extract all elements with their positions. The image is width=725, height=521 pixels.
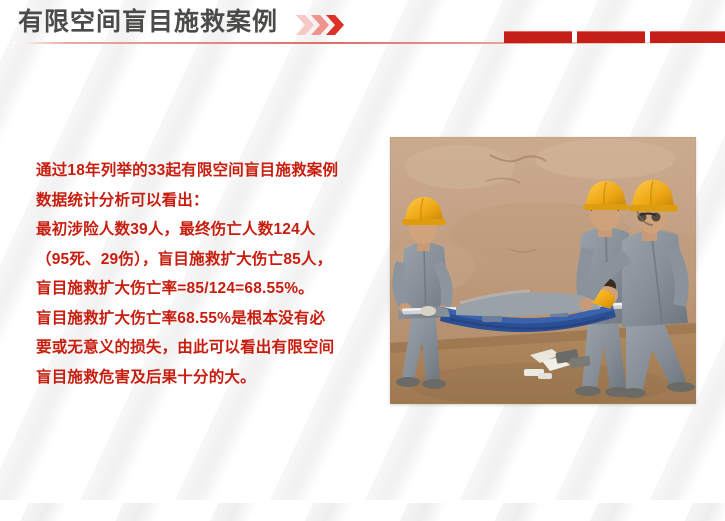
accent-bar-1 [504,31,572,43]
rescue-drill-photo [390,137,696,404]
content-line: 要或无意义的损失，由此可以看出有限空间 [36,333,386,363]
triple-chevron-right-icon [296,14,350,36]
content-line: 最初涉险人数39人，最终伤亡人数124人 [36,215,386,245]
accent-bar-3 [650,31,725,43]
background-diagonal-stripes-lower [0,503,725,521]
page-title: 有限空间盲目施救案例 [18,7,278,37]
content-line: 盲目施救扩大伤亡率=85/124=68.55%。 [36,274,386,304]
content-line: 数据统计分析可以看出： [36,186,386,216]
content-text-block: 通过18年列举的33起有限空间盲目施救案例 数据统计分析可以看出： 最初涉险人数… [36,156,386,392]
accent-bar-2 [577,31,645,43]
content-line: 盲目施救扩大伤亡率68.55%是根本没有必 [36,304,386,334]
header-accent-bars [504,31,725,42]
slide-canvas: 有限空间盲目施救案例 通过18年列举的33起有限空间盲目施救案例 数据统计分析可… [0,0,725,521]
content-line: 盲目施救危害及后果十分的大。 [36,363,386,393]
content-line: （95死、29伤），盲目施救扩大伤亡85人， [36,245,386,275]
slide-header: 有限空间盲目施救案例 [0,0,725,46]
content-line: 通过18年列举的33起有限空间盲目施救案例 [36,156,386,186]
